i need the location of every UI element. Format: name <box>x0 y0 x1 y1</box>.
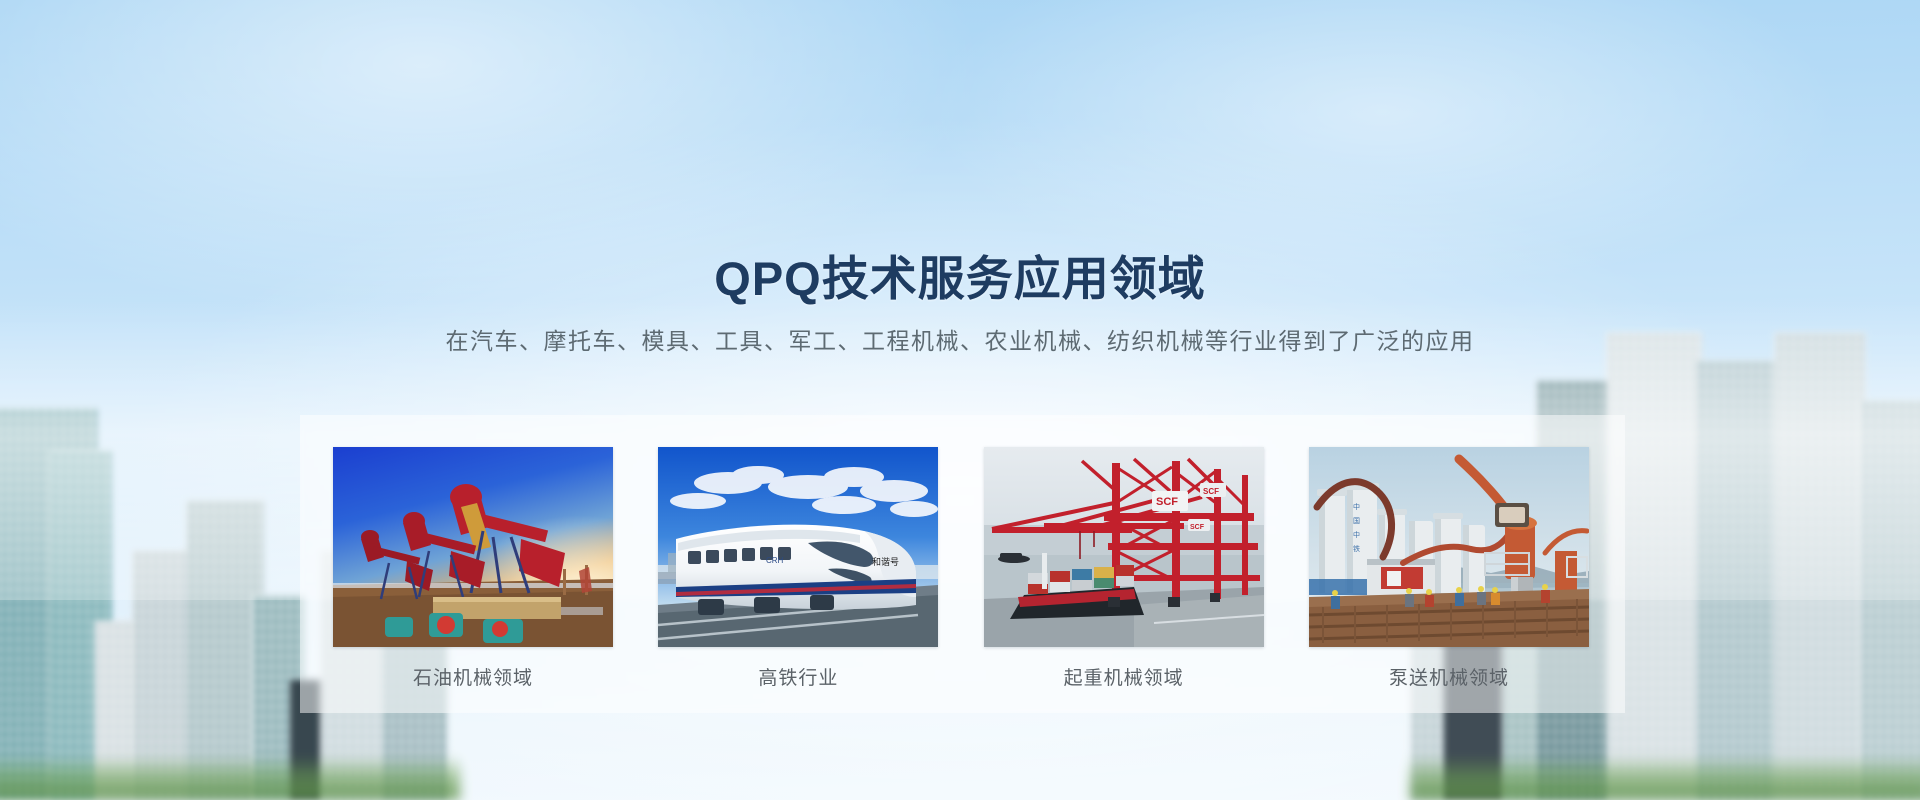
oil-pumpjack-image[interactable] <box>333 447 613 647</box>
hero-banner: QPQ技术服务应用领域 在汽车、摩托车、模具、工具、军工、工程机械、农业机械、纺… <box>0 0 1920 800</box>
svg-text:CRH: CRH <box>766 556 784 565</box>
port-crane-image[interactable]: SCF SCF SCF <box>984 447 1264 647</box>
svg-text:中: 中 <box>1353 502 1360 511</box>
card-pumping-machinery[interactable]: 中国中铁 <box>1309 447 1589 682</box>
svg-text:SCF: SCF <box>1190 524 1205 531</box>
card-label: 高铁行业 <box>658 663 938 690</box>
svg-text:SCF: SCF <box>1156 496 1178 508</box>
svg-text:中: 中 <box>1353 530 1360 539</box>
card-lifting-machinery[interactable]: SCF SCF SCF <box>984 447 1264 682</box>
concrete-pump-image[interactable]: 中国中铁 <box>1309 447 1589 647</box>
svg-text:铁: 铁 <box>1353 544 1360 553</box>
card-oil-machinery[interactable]: 石油机械领域 <box>333 447 613 682</box>
card-label: 起重机械领域 <box>984 663 1264 690</box>
application-cards: 石油机械领域 <box>333 447 1589 682</box>
svg-text:和谐号: 和谐号 <box>872 557 899 567</box>
svg-text:SCF: SCF <box>1203 487 1219 496</box>
page-subtitle: 在汽车、摩托车、模具、工具、军工、工程机械、农业机械、纺织机械等行业得到了广泛的… <box>0 322 1920 356</box>
page-title: QPQ技术服务应用领域 <box>0 240 1920 309</box>
high-speed-train-image[interactable]: CRH 和谐号 <box>658 447 938 647</box>
card-high-speed-rail[interactable]: CRH 和谐号 高铁行业 <box>658 447 938 682</box>
svg-text:国: 国 <box>1353 517 1360 525</box>
card-label: 泵送机械领域 <box>1309 663 1589 690</box>
card-label: 石油机械领域 <box>333 663 613 690</box>
